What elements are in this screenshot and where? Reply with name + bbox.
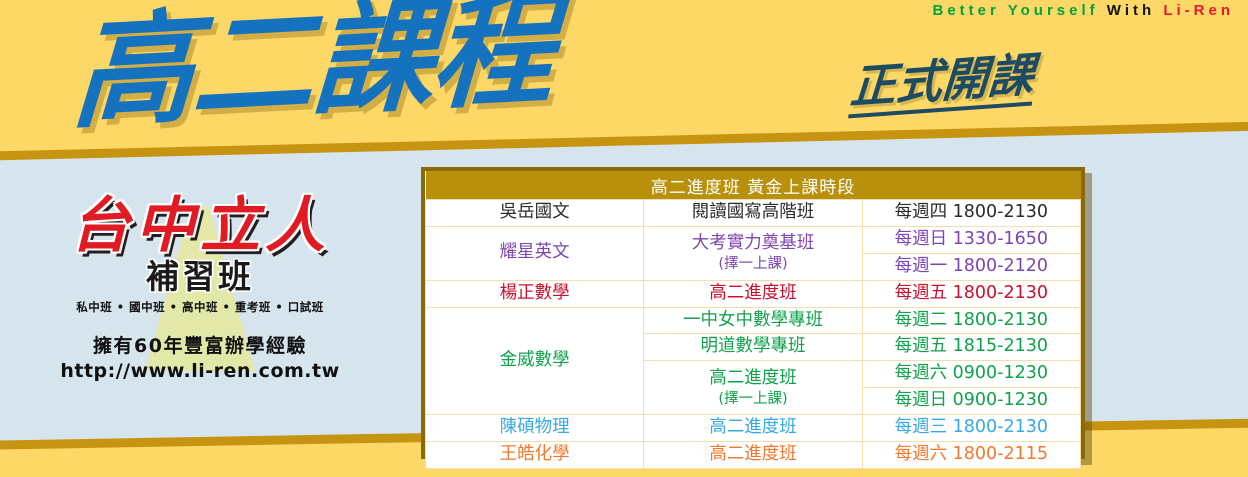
table-header-title: 高二進度班 黃金上課時段	[426, 171, 1081, 200]
cell-time: 每週六 1800-2115	[862, 441, 1080, 468]
cell-teacher: 耀星英文	[426, 226, 644, 280]
table-row: 金威數學一中女中數學專班每週二 1800-2130	[426, 307, 1081, 334]
cell-course: 一中女中數學專班	[644, 307, 862, 334]
table-row: 王皓化學高二進度班每週六 1800-2115	[426, 441, 1081, 468]
table-row: 耀星英文大考實力奠基班(擇一上課)每週日 1330-1650	[426, 226, 1081, 253]
logo-url[interactable]: http://www.li-ren.com.tw	[20, 360, 380, 382]
logo-class-list: 私中班 • 國中班 • 高中班 • 重考班 • 口試班	[20, 299, 380, 315]
course-banner: Better Yourself With Li-Ren 高二課程 正式開課 台中…	[0, 0, 1248, 477]
cell-teacher: 王皓化學	[426, 441, 644, 468]
tagline-with: With	[1107, 2, 1164, 19]
logo-experience: 擁有60年豐富辦學經驗	[20, 331, 380, 358]
cell-time: 每週一 1800-2120	[862, 253, 1080, 280]
table-row: 吳岳國文閱讀國寫高階班每週四 1800-2130	[426, 200, 1081, 227]
cell-course: 明道數學專班	[644, 334, 862, 361]
cell-time: 每週二 1800-2130	[862, 307, 1080, 334]
schedule-table-container: 高二進度班 黃金上課時段 吳岳國文閱讀國寫高階班每週四 1800-2130耀星英…	[421, 167, 1085, 459]
cell-teacher: 陳碩物理	[426, 415, 644, 442]
cell-teacher: 楊正數學	[426, 280, 644, 307]
cell-course: 高二進度班	[644, 280, 862, 307]
cell-time: 每週五 1815-2130	[862, 334, 1080, 361]
table-header-row: 高二進度班 黃金上課時段	[426, 171, 1081, 200]
cell-course-note: (擇一上課)	[648, 255, 857, 273]
cell-teacher: 吳岳國文	[426, 200, 644, 227]
cell-course: 高二進度班	[644, 441, 862, 468]
cell-course-note: (擇一上課)	[648, 390, 857, 408]
cell-time: 每週五 1800-2130	[862, 280, 1080, 307]
tagline: Better Yourself With Li-Ren	[932, 2, 1234, 19]
table-row: 楊正數學高二進度班每週五 1800-2130	[426, 280, 1081, 307]
cell-teacher: 金威數學	[426, 307, 644, 415]
tagline-better-yourself: Better Yourself	[932, 2, 1106, 19]
cell-time: 每週日 0900-1230	[862, 388, 1080, 415]
tagline-li-ren: Li-Ren	[1163, 2, 1234, 19]
logo: 台中立人 補習班 私中班 • 國中班 • 高中班 • 重考班 • 口試班 擁有6…	[20, 196, 380, 382]
cell-course: 高二進度班(擇一上課)	[644, 361, 862, 415]
cell-course: 高二進度班	[644, 415, 862, 442]
table-row: 陳碩物理高二進度班每週三 1800-2130	[426, 415, 1081, 442]
cell-time: 每週三 1800-2130	[862, 415, 1080, 442]
logo-subname: 補習班	[20, 259, 380, 295]
cell-time: 每週日 1330-1650	[862, 226, 1080, 253]
cell-time: 每週四 1800-2130	[862, 200, 1080, 227]
schedule-table-head: 高二進度班 黃金上課時段	[426, 171, 1081, 200]
cell-time: 每週六 0900-1230	[862, 361, 1080, 388]
page-title: 高二課程	[70, 0, 556, 135]
cell-course: 閱讀國寫高階班	[644, 200, 862, 227]
schedule-table: 高二進度班 黃金上課時段 吳岳國文閱讀國寫高階班每週四 1800-2130耀星英…	[425, 171, 1081, 469]
schedule-table-body: 吳岳國文閱讀國寫高階班每週四 1800-2130耀星英文大考實力奠基班(擇一上課…	[426, 200, 1081, 469]
cell-course: 大考實力奠基班(擇一上課)	[644, 226, 862, 280]
logo-name: 台中立人	[20, 196, 380, 257]
